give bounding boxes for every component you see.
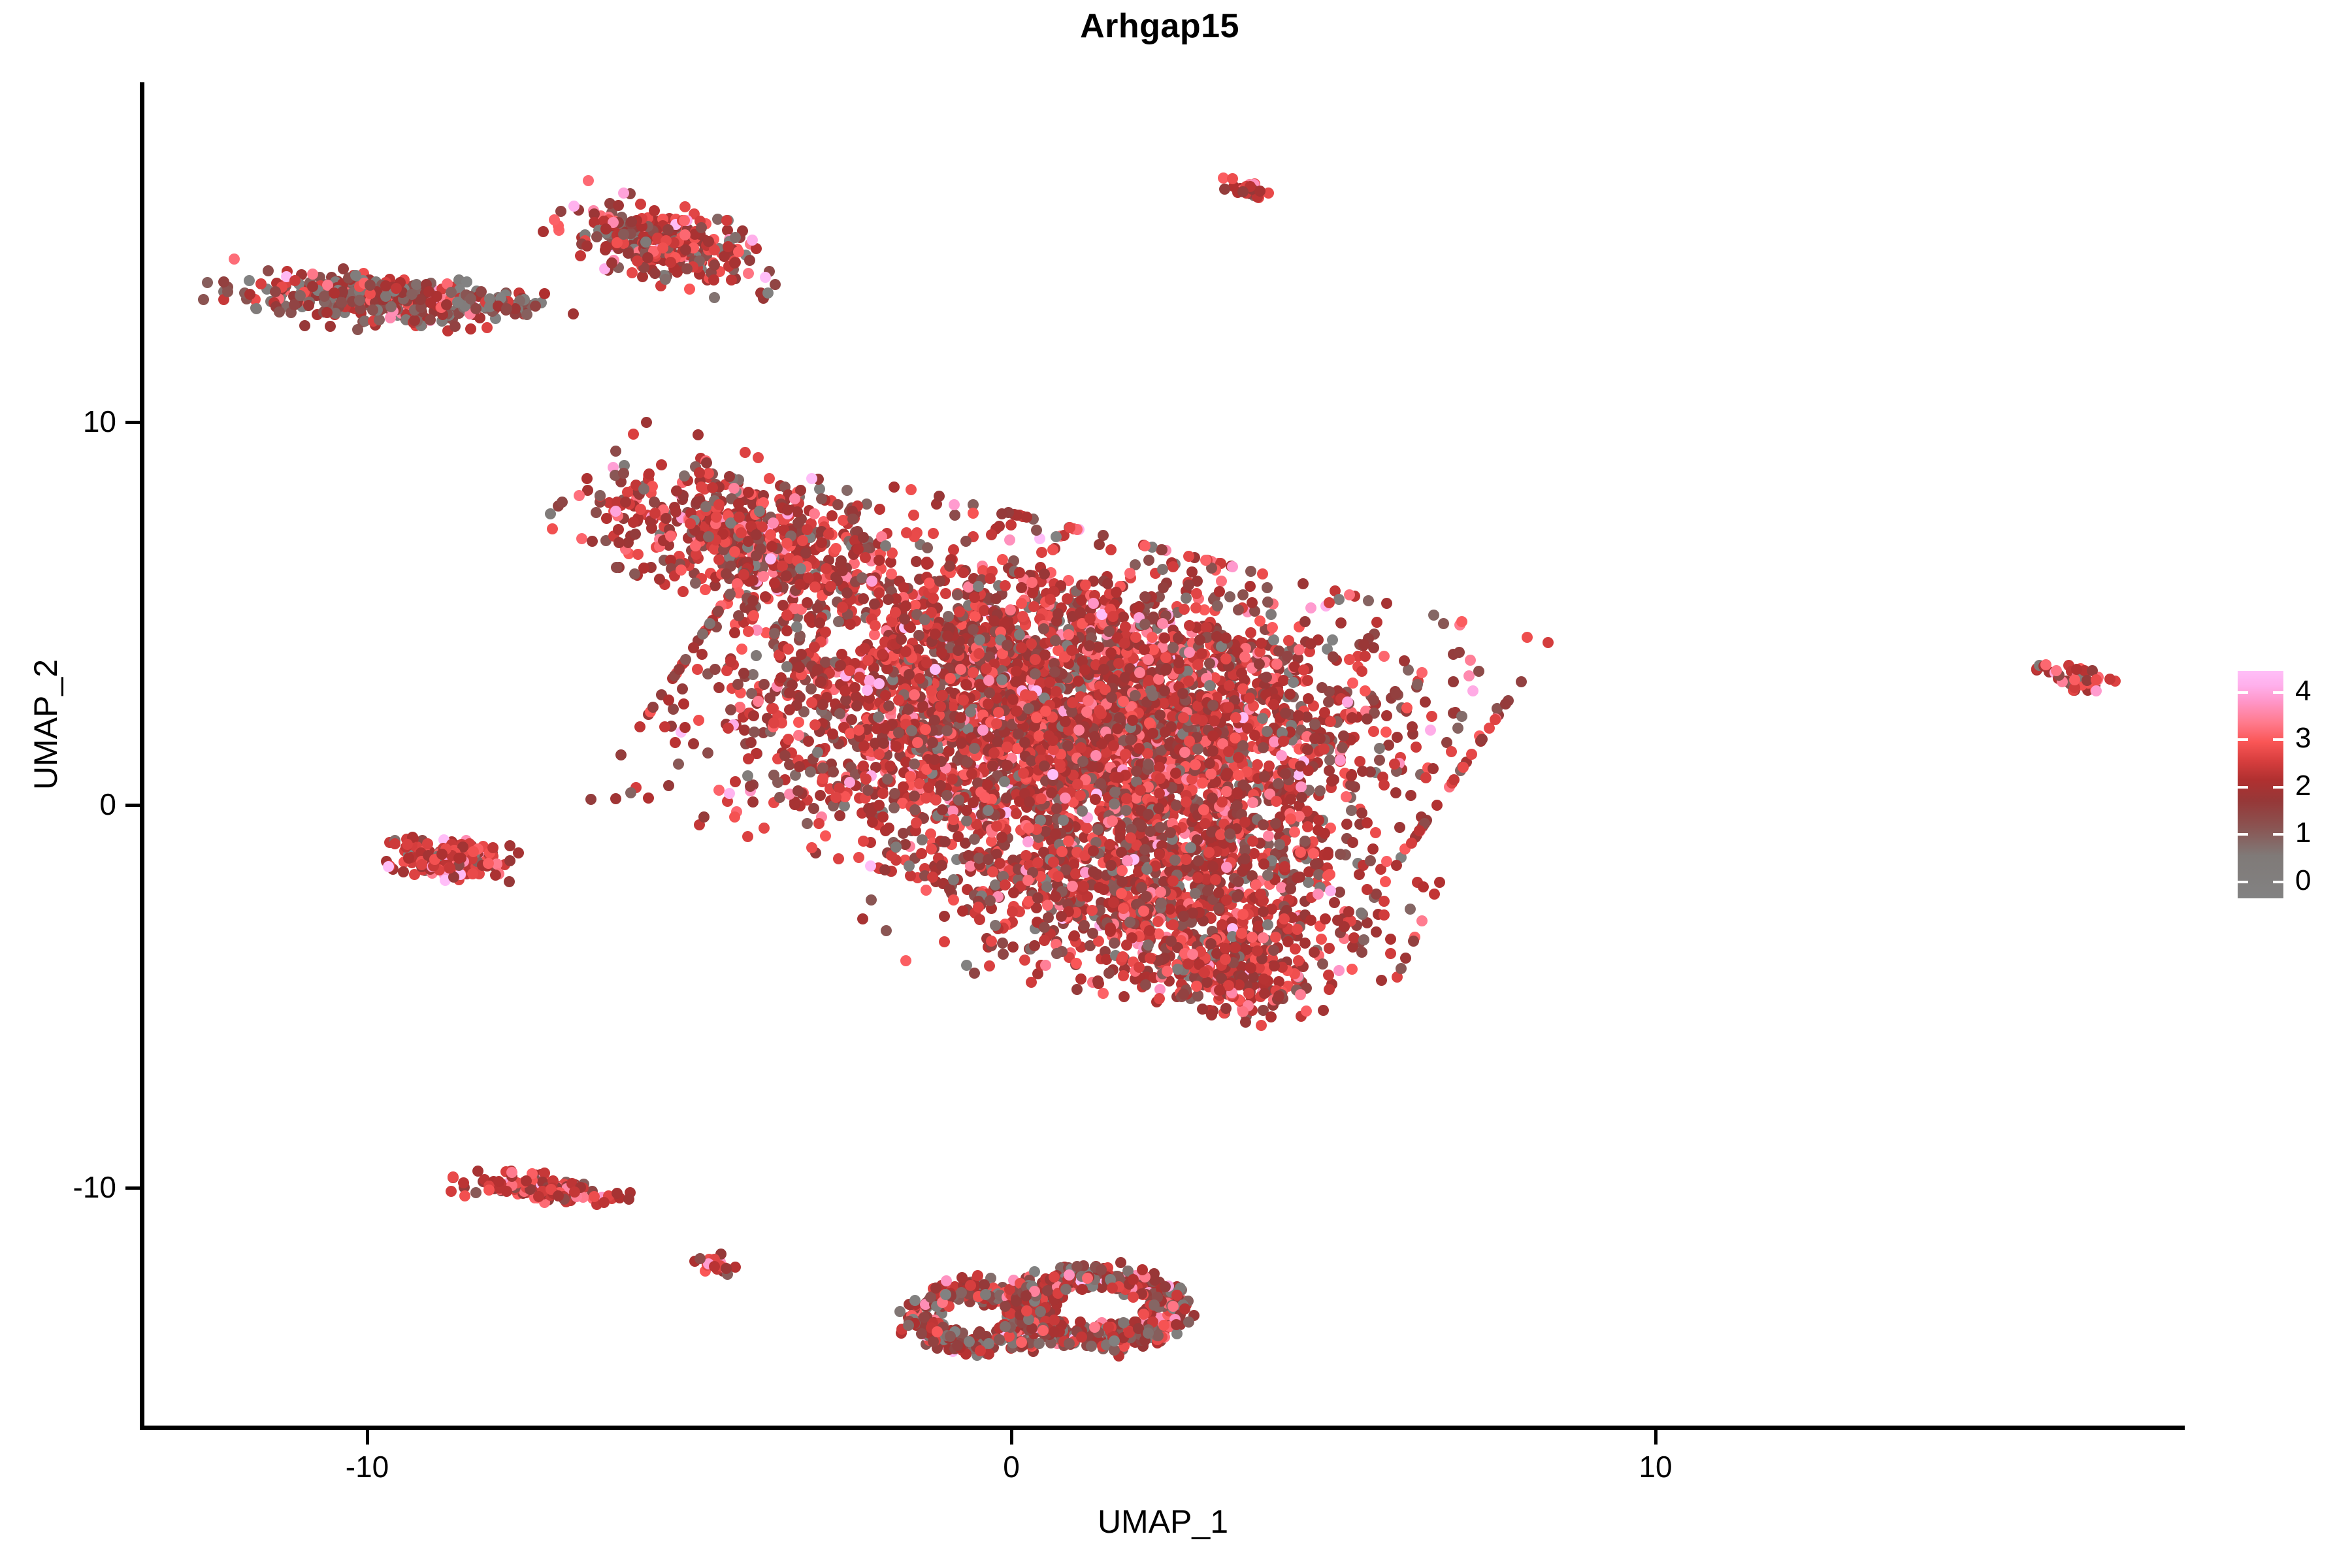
scatter-point [1360,685,1371,696]
scatter-point [1261,672,1272,683]
scatter-point [834,810,845,821]
scatter-point [696,482,707,493]
scatter-point [600,223,612,235]
scatter-point [1191,588,1202,599]
scatter-point [747,796,759,808]
scatter-point [482,322,493,333]
scatter-point [576,533,587,544]
scatter-point [960,536,972,547]
scatter-point [1405,790,1416,801]
scatter-point [255,278,267,289]
scatter-point [547,523,558,534]
scatter-point [1360,651,1371,662]
scatter-point [391,283,402,294]
scatter-point [792,517,804,529]
scatter-point [270,286,281,297]
scatter-point [1233,604,1244,615]
scatter-point [803,736,814,747]
scatter-point [961,815,972,826]
scatter-point [709,292,720,303]
scatter-point [632,549,644,560]
scatter-point [1183,551,1194,562]
scatter-point [575,250,586,261]
scatter-point [1001,792,1012,804]
scatter-point [1309,719,1320,730]
scatter-point [764,473,775,484]
scatter-point [1380,727,1392,738]
scatter-point [794,579,806,590]
scatter-point [723,723,734,734]
scatter-point [1288,677,1299,688]
scatter-point [557,497,568,508]
scatter-point [1303,693,1314,704]
scatter-point [800,547,811,559]
scatter-point [367,304,378,316]
scatter-point [969,592,980,603]
scatter-point [740,447,751,458]
scatter-point [880,690,891,701]
scatter-point [539,288,550,299]
scatter-point [591,231,602,242]
scatter-point [958,567,969,578]
scatter-point [1090,794,1101,805]
scatter-point [815,790,826,801]
scatter-point [1192,743,1203,755]
scatter-point [587,536,598,547]
scatter-point [1456,711,1467,722]
scatter-point [1236,668,1247,679]
scatter-point [1516,676,1527,687]
scatter-point [600,241,612,252]
scatter-point [406,289,417,300]
scatter-point [1254,186,1266,197]
scatter-point [501,303,512,314]
scatter-point [595,490,606,501]
scatter-point [1017,611,1028,622]
scatter-point [1105,544,1117,555]
scatter-point [802,524,813,535]
scatter-point [1159,632,1170,644]
scatter-point [1147,690,1158,701]
scatter-point [1302,675,1313,686]
scatter-point [1347,678,1358,689]
scatter-point [1212,600,1223,612]
scatter-point [698,811,710,823]
scatter-point [661,513,672,524]
scatter-point [649,508,661,519]
scatter-point [839,800,850,811]
scatter-point [924,578,935,589]
scatter-point [743,626,754,637]
scatter-point [656,459,667,470]
scatter-point [908,510,919,521]
scatter-point [755,544,766,555]
scatter-point [222,286,233,297]
scatter-point [585,794,596,805]
scatter-point [802,818,813,829]
scatter-point [1257,713,1268,724]
scatter-point [760,591,771,602]
scatter-point [1227,561,1238,572]
scatter-point [1374,755,1385,766]
scatter-point [663,780,674,791]
scatter-point [997,554,1008,565]
scatter-point [713,606,724,617]
scatter-point [1416,667,1428,678]
scatter-point [274,306,285,318]
scatter-point [1324,765,1335,776]
scatter-point [901,527,912,538]
scatter-point [713,785,725,796]
scatter-point [329,287,340,299]
scatter-point [833,853,844,864]
scatter-point [721,215,732,226]
scatter-point [350,270,361,281]
scatter-point [244,289,255,300]
scatter-point [1047,544,1058,555]
scatter-point [781,538,792,549]
scatter-point [1319,707,1330,718]
scatter-point [965,706,976,717]
scatter-point [640,237,651,248]
scatter-point [307,281,318,292]
scatter-point [826,510,838,521]
scatter-point [1328,651,1339,662]
scatter-point [949,510,960,521]
scatter-point [665,257,676,268]
scatter-point [853,852,864,863]
scatter-point [665,531,676,542]
scatter-point [1259,771,1270,782]
scatter-point [1326,776,1337,787]
scatter-point [1368,642,1379,653]
scatter-point [649,268,661,279]
scatter-point [707,482,718,493]
scatter-point [820,627,831,638]
scatter-point [1426,711,1437,722]
scatter-point [681,263,693,274]
scatter-point [1333,594,1345,605]
scatter-point [1271,796,1282,807]
scatter-point [898,582,909,593]
scatter-point [530,301,541,312]
scatter-point [742,770,753,781]
scatter-point [1522,632,1533,643]
scatter-point [713,682,725,693]
scatter-point [696,222,707,233]
scatter-point [1446,746,1457,757]
scatter-point [692,664,703,675]
scatter-point [1466,749,1477,760]
scatter-point [623,248,634,259]
plot-panel [144,85,2182,1428]
scatter-point [321,307,333,318]
scatter-point [1420,696,1431,708]
scatter-point [583,175,594,186]
scatter-point [307,269,318,280]
scatter-point [729,811,740,823]
scatter-point [749,727,760,738]
scatter-point [765,553,776,564]
scatter-point [806,473,817,484]
scatter-point [325,321,336,332]
scatter-point [809,642,820,653]
scatter-point [1197,777,1208,789]
scatter-point [374,314,385,325]
scatter-point [729,627,740,638]
scatter-point [1094,539,1105,550]
scatter-point [1204,658,1215,669]
scatter-point [1438,618,1449,629]
scatter-point [889,802,900,813]
scatter-point [841,485,853,496]
scatter-point [1298,578,1309,589]
scatter-point [751,529,762,540]
scatter-point [641,417,652,428]
scatter-point [906,484,917,495]
scatter-point [1394,822,1405,833]
scatter-point [805,766,816,777]
scatter-point [886,568,897,580]
scatter-point [748,710,759,721]
scatter-point [736,527,747,538]
scatter-point [858,532,869,543]
scatter-point [917,834,928,845]
scatter-point [1428,610,1439,621]
scatter-point [1347,837,1358,848]
scatter-point [1227,173,1238,184]
scatter-point [940,588,951,599]
scatter-point [425,314,436,325]
scatter-point [1026,577,1037,588]
scatter-point [677,683,688,694]
scatter-point [618,188,629,199]
scatter-point [1181,593,1192,604]
scatter-point [244,275,255,286]
scatter-point [743,487,754,498]
scatter-point [1383,740,1394,751]
scatter-point [759,679,770,690]
scatter-point [701,457,712,468]
scatter-point [723,241,734,252]
scatter-point [817,773,828,784]
scatter-point [1147,632,1158,643]
scatter-point [613,537,625,548]
scatter-point [1011,666,1022,677]
scatter-point [1335,617,1347,629]
scatter-point [615,749,627,760]
scatter-point [782,504,793,515]
scatter-point [1341,819,1352,830]
scatter-point [859,643,870,654]
scatter-point [1216,576,1227,587]
scatter-point [877,788,889,799]
scatter-point [611,562,622,573]
scatter-point [1313,825,1324,836]
scatter-point [747,595,759,606]
scatter-point [613,524,624,535]
scatter-point [814,483,825,495]
scatter-point [874,504,885,515]
scatter-point [1456,616,1467,627]
scatter-point [858,593,869,604]
scatter-point [700,584,711,595]
scatter-point [1005,519,1017,531]
scatter-point [1399,655,1410,666]
scatter-point [1324,597,1335,608]
scatter-point [1014,567,1025,578]
scatter-point [1363,595,1374,606]
scatter-point [751,650,762,661]
scatter-point [229,253,240,265]
scatter-point [380,280,391,291]
scatter-point [613,200,624,211]
scatter-point [713,554,725,565]
scatter-point [744,255,755,266]
scatter-point [772,777,783,788]
scatter-point [1411,742,1422,753]
scatter-point [809,508,820,519]
scatter-point [812,664,823,675]
scatter-point [634,721,645,732]
scatter-point [762,287,774,299]
scatter-point [837,565,848,576]
scatter-point [845,619,856,630]
scatter-point [1081,823,1092,834]
scatter-point [939,836,951,847]
scatter-point [708,274,719,286]
scatter-point [1425,725,1436,736]
scatter-point [1374,743,1385,754]
scatter-point [1004,534,1015,546]
scatter-point [1266,609,1277,620]
scatter-point [1276,750,1287,761]
scatter-point [1371,617,1382,628]
scatter-point [1237,186,1249,197]
scatter-point [1262,726,1273,737]
scatter-point [1262,582,1273,593]
scatter-point [1158,582,1169,593]
scatter-point [745,781,756,792]
scatter-point [968,508,979,519]
scatter-point [742,831,753,842]
scatter-point [934,491,945,502]
scatter-point [1323,696,1334,708]
scatter-point [354,295,365,306]
scatter-point [1143,555,1154,566]
scatter-point [679,229,691,240]
scatter-point [465,323,476,335]
scatter-point [680,244,691,255]
scatter-point [441,299,452,310]
scatter-point [879,723,890,734]
scatter-point [1305,602,1316,613]
scatter-point [425,297,436,308]
scatter-point [754,506,765,517]
scatter-point [1220,653,1232,664]
scatter-point [568,308,579,319]
scatter-point [635,199,646,210]
scatter-point [889,788,900,799]
scatter-point [198,294,209,305]
scatter-point [581,240,593,252]
scatter-point [218,276,229,287]
scatter-point [874,800,885,811]
scatter-point [837,602,848,613]
scatter-point [690,578,701,589]
scatter-point [816,537,827,548]
scatter-point [1344,589,1355,600]
scatter-point [1420,772,1431,783]
scatter-point [1465,655,1476,666]
scatter-point [643,792,654,804]
scatter-point [797,535,808,546]
scatter-point [1160,652,1171,663]
scatter-point [1168,561,1179,572]
scatter-point [1159,685,1170,696]
scatter-point [638,483,649,495]
scatter-point [768,517,779,529]
scatter-point [758,571,769,582]
scatter-point [1219,184,1230,195]
scatter-point [911,556,922,567]
scatter-point [823,529,834,540]
scatter-point [538,226,549,237]
scatter-point [1257,568,1268,580]
scatter-point [1111,587,1122,598]
scatter-point [289,275,301,286]
scatter-point [802,597,813,608]
scatter-point [1245,627,1256,638]
scatter-point [861,498,872,510]
scatter-point [1252,759,1263,770]
scatter-point [728,483,740,494]
scatter-point [725,589,736,600]
umap-feature-plot: Arhgap15 -10010 100-10 UMAP_1 UMAP_2 432… [0,0,2352,1568]
scatter-point [470,303,482,314]
scatter-point [647,702,659,713]
scatter-point [678,586,689,597]
scatter-point [743,268,754,279]
scatter-point [670,506,681,517]
scatter-point [1271,659,1282,670]
scatter-point [1490,714,1501,725]
scatter-point [449,321,461,332]
scatter-point [574,490,585,501]
scatter-point [1448,774,1460,785]
scatter-point [409,315,420,326]
scatter-point [694,467,705,478]
scatter-point [921,557,932,568]
scatter-point [830,543,841,554]
scatter-point [680,654,691,665]
scatter-point [879,864,890,875]
scatter-point [610,793,621,804]
scatter-point [1221,786,1232,797]
scatter-point [251,303,262,314]
scatter-point [866,576,877,587]
scatter-point [1031,525,1042,536]
scatter-point [676,564,687,576]
scatter-point [521,309,532,320]
scatter-point [889,482,900,493]
scatter-point [1237,740,1249,751]
scatter-point [730,776,741,787]
scatter-point [793,717,804,728]
scatter-point [610,446,621,457]
scatter-point [628,429,639,440]
scatter-point [1448,676,1459,687]
